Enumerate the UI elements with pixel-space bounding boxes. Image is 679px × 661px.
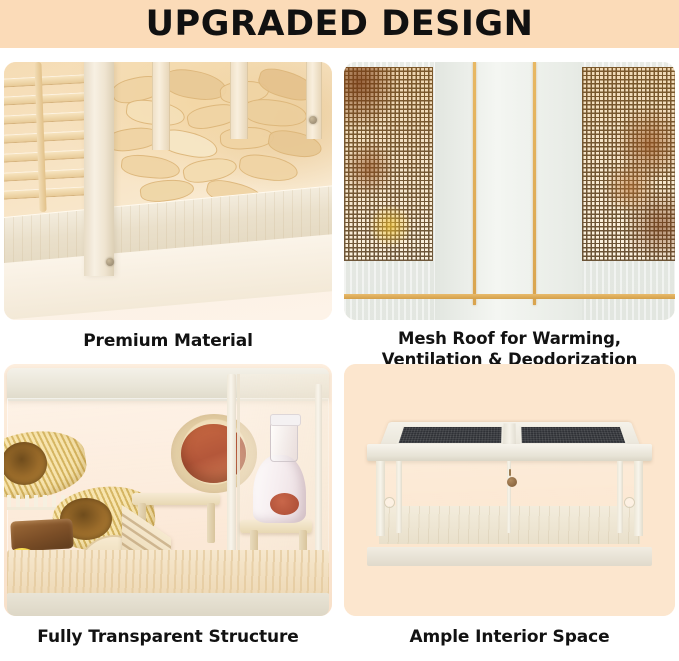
feature-card-ample-interior-space: Ample Interior Space [344,364,675,660]
roof-seam-right [533,62,536,305]
door-latch-icon[interactable] [507,477,517,487]
cage-corner-post-inner-left [396,461,402,533]
straw-hut-opening [4,442,47,485]
cage-post-right [230,62,248,139]
mesh-panel-left [344,67,433,261]
cage-corner-pillar [84,62,114,276]
feature-grid: Premium Material Mesh Roof for Warming, … [0,48,679,661]
feature-card-mesh-roof: Mesh Roof for Warming, Ventilation & Deo… [344,62,675,382]
caption-line: Ample Interior Space [344,627,675,648]
mesh-panel-right [582,67,675,261]
side-vent-hole-right [624,497,635,508]
roof-center-strip [503,424,516,446]
cage-post-far-right [306,62,322,139]
mesh-shadow-tint [582,67,675,261]
photo-transparent-structure [4,364,332,616]
caption-ample-interior-space: Ample Interior Space [344,627,675,648]
roof-center-divider [435,62,582,320]
water-bottle-tube [270,422,298,462]
wooden-log-toy [10,519,74,552]
water-bottle-label [270,493,300,516]
cage-bottom-rail [7,593,328,616]
caption-transparent-structure: Fully Transparent Structure [4,627,332,648]
caption-premium-material: Premium Material [4,331,332,352]
platform-leg [207,503,215,543]
cage-product [367,409,652,565]
feature-card-transparent-structure: Fully Transparent Structure [4,364,332,660]
cage-post-left [152,62,170,150]
water-bottle-cap [270,414,302,426]
side-vent-hole-left [384,497,395,508]
cage-corner-post-left [376,461,385,536]
cage-corner-post-right [634,461,643,536]
caption-line: Premium Material [4,331,332,352]
screw-icon [106,258,114,266]
caption-line: Mesh Roof for Warming, [344,329,675,350]
photo-mesh-roof [344,62,675,320]
mesh-pane-right [519,426,627,445]
mesh-shadow-tint [344,67,433,261]
roof-seam-left [473,62,476,305]
header-band: UPGRADED DESIGN [0,0,679,48]
caption-line: Fully Transparent Structure [4,627,332,648]
roof-bottom-rail [344,294,675,299]
photo-premium-material [4,62,332,320]
feature-card-premium-material: Premium Material [4,62,332,368]
page-title: UPGRADED DESIGN [146,7,534,42]
cage-corner-post-inner-right [617,461,623,533]
cage-base-rim [367,547,652,566]
photo-ample-interior-space [344,364,675,616]
bedding-layer [7,550,328,595]
cage-top-rim [367,444,652,461]
mesh-pane-left [395,426,503,445]
